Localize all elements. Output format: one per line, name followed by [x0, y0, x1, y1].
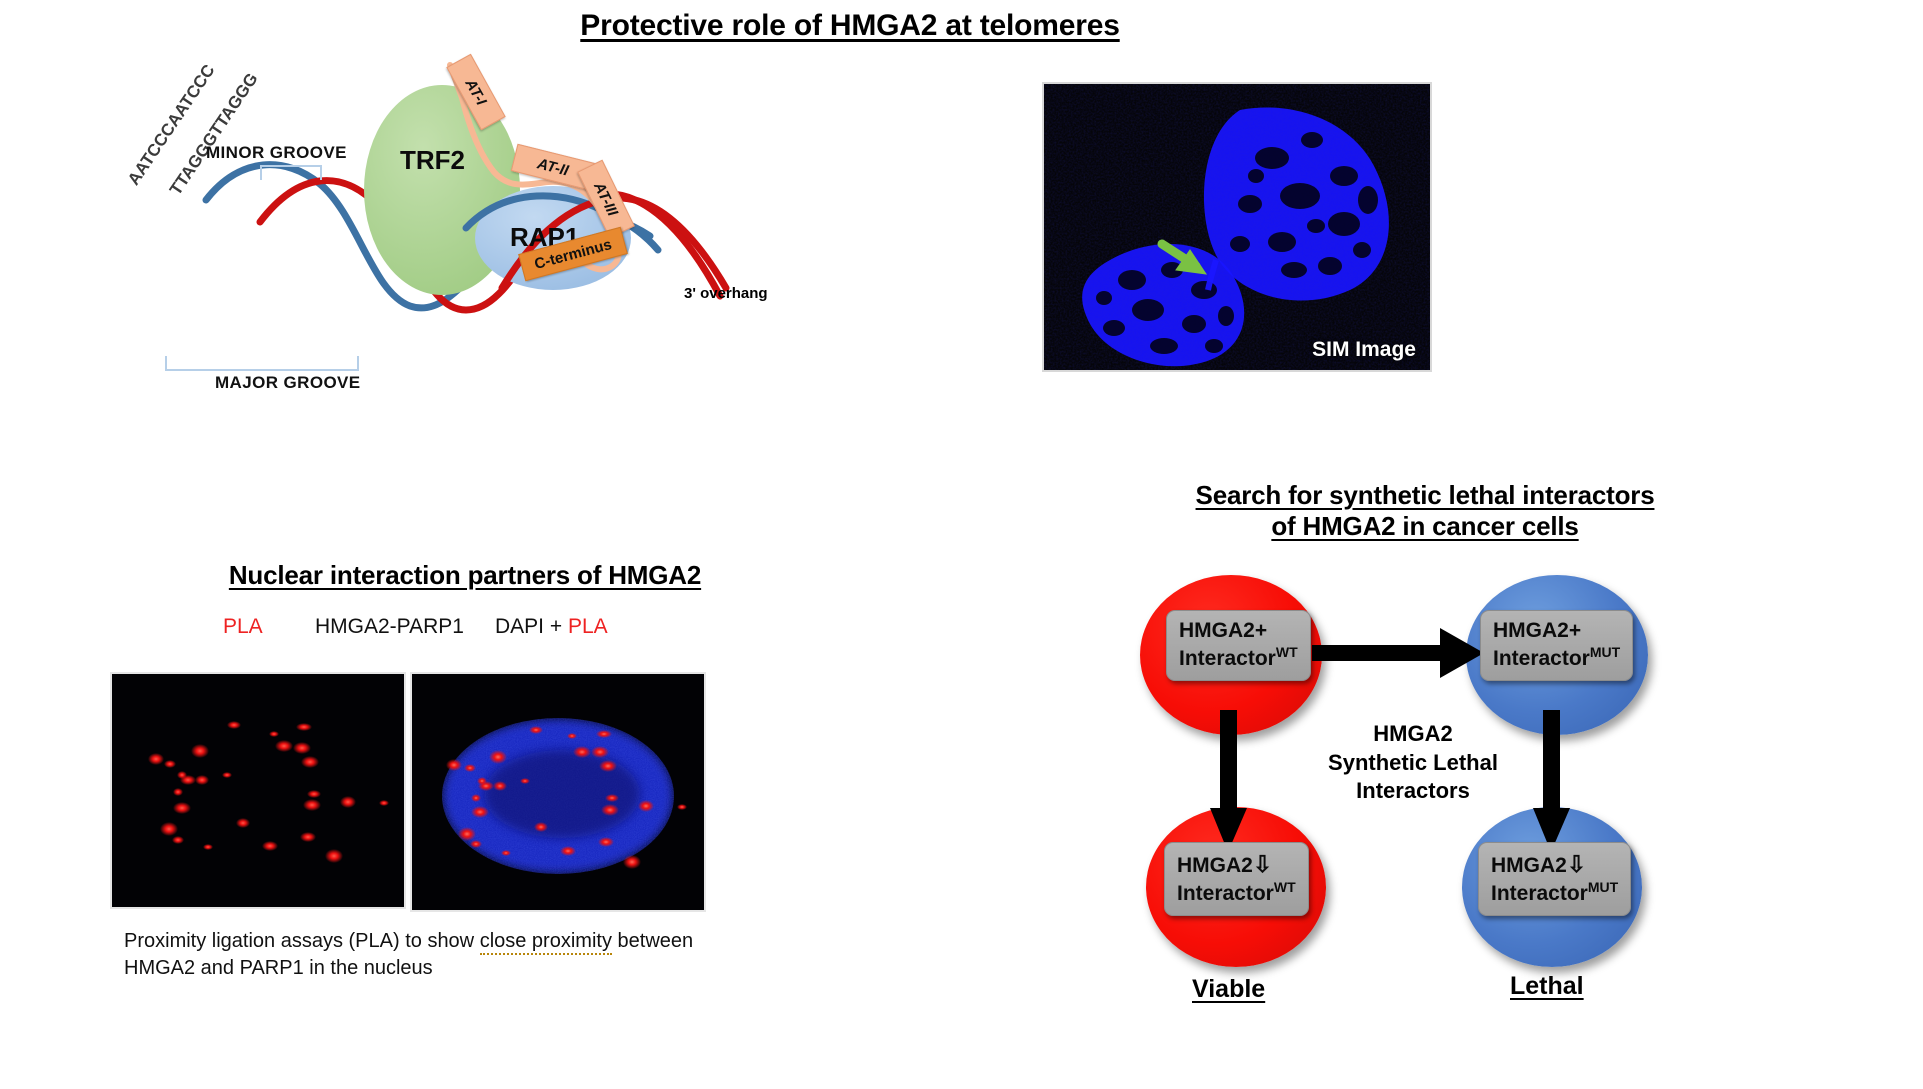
pla-caption: Proximity ligation assays (PLA) to show …: [124, 928, 724, 982]
three-prime-overhang-label: 3' overhang: [684, 285, 768, 302]
center-line-2: Synthetic Lethal: [1328, 750, 1498, 775]
caption-spellcheck-phrase: close proximity: [480, 930, 612, 955]
node-tl-line2: Interactor: [1179, 647, 1276, 670]
minor-groove-label: MINOR GROOVE: [206, 143, 347, 163]
node-label-bottom-left: HMGA2⇩InteractorWT: [1164, 842, 1309, 916]
center-line-1: HMGA2: [1373, 721, 1452, 746]
dapi-pla-merge-micrograph: [410, 672, 706, 912]
node-tr-sup: MUT: [1590, 644, 1620, 660]
pla-panel: Nuclear interaction partners of HMGA2 PL…: [110, 560, 910, 1060]
caption-part-1: Proximity ligation assays (PLA) to show: [124, 930, 480, 952]
pla-column-label-left: PLA: [223, 615, 263, 639]
synthetic-lethal-panel: Search for synthetic lethal interactorso…: [1140, 480, 1760, 1080]
node-bl-line2: Interactor: [1177, 882, 1274, 905]
sim-nuclei-svg: [1044, 84, 1430, 370]
arrow-down-right: [1533, 710, 1570, 852]
sim-micrograph: SIM Image: [1042, 82, 1432, 372]
node-br-sup: MUT: [1588, 879, 1618, 895]
major-groove-label: MAJOR GROOVE: [215, 373, 361, 393]
node-tr-line1: HMGA2+: [1493, 619, 1581, 642]
page-title: Protective role of HMGA2 at telomeres: [0, 8, 1700, 43]
pla-dots-svg: [112, 674, 404, 907]
hmga2-knockdown-arrow-icon-left: ⇩: [1253, 851, 1272, 877]
hmga2-knockdown-arrow-icon-right: ⇩: [1567, 851, 1586, 877]
node-br-line1: HMGA2: [1491, 854, 1567, 877]
synthetic-lethal-center-caption: HMGA2Synthetic LethalInteractors: [1308, 720, 1518, 806]
node-tl-line1: HMGA2+: [1179, 619, 1267, 642]
merge-svg: [412, 674, 704, 910]
dapi-text: DAPI +: [495, 615, 568, 638]
major-groove-bracket: [165, 356, 359, 371]
arrow-down-left: [1210, 710, 1247, 852]
caption-part-3: between: [612, 930, 693, 952]
node-tr-line2: Interactor: [1493, 647, 1590, 670]
node-bl-line1: HMGA2: [1177, 854, 1253, 877]
pla-column-label-right: DAPI + PLA: [495, 615, 608, 639]
sim-image-panel: SIM Image: [1042, 82, 1432, 372]
pla-panel-title: Nuclear interaction partners of HMGA2: [145, 560, 785, 591]
node-tl-sup: WT: [1276, 644, 1298, 660]
pla-column-label-center: HMGA2-PARP1: [315, 615, 464, 639]
sim-image-label: SIM Image: [1312, 338, 1416, 362]
node-label-bottom-right: HMGA2⇩InteractorMUT: [1478, 842, 1631, 916]
pla-text-red: PLA: [568, 615, 608, 638]
figure-canvas: Protective role of HMGA2 at telomeres: [0, 0, 1923, 1089]
node-br-line2: Interactor: [1491, 882, 1588, 905]
outcome-label-lethal: Lethal: [1510, 972, 1584, 1001]
outcome-label-viable: Viable: [1192, 975, 1265, 1004]
center-line-3: Interactors: [1356, 778, 1470, 803]
node-bl-sup: WT: [1274, 879, 1296, 895]
trf2-label: TRF2: [400, 145, 465, 176]
node-label-top-left: HMGA2+InteractorWT: [1166, 610, 1311, 681]
node-label-top-right: HMGA2+InteractorMUT: [1480, 610, 1633, 681]
telomere-schematic-panel: AATCCCAATCCC TTAGGGTTAGGG MINOR GROOVE M…: [110, 60, 990, 390]
caption-line-2: HMGA2 and PARP1 in the nucleus: [124, 957, 433, 979]
arrow-right-top: [1312, 628, 1484, 678]
minor-groove-bracket: [260, 165, 322, 180]
pla-micrograph: [110, 672, 406, 909]
